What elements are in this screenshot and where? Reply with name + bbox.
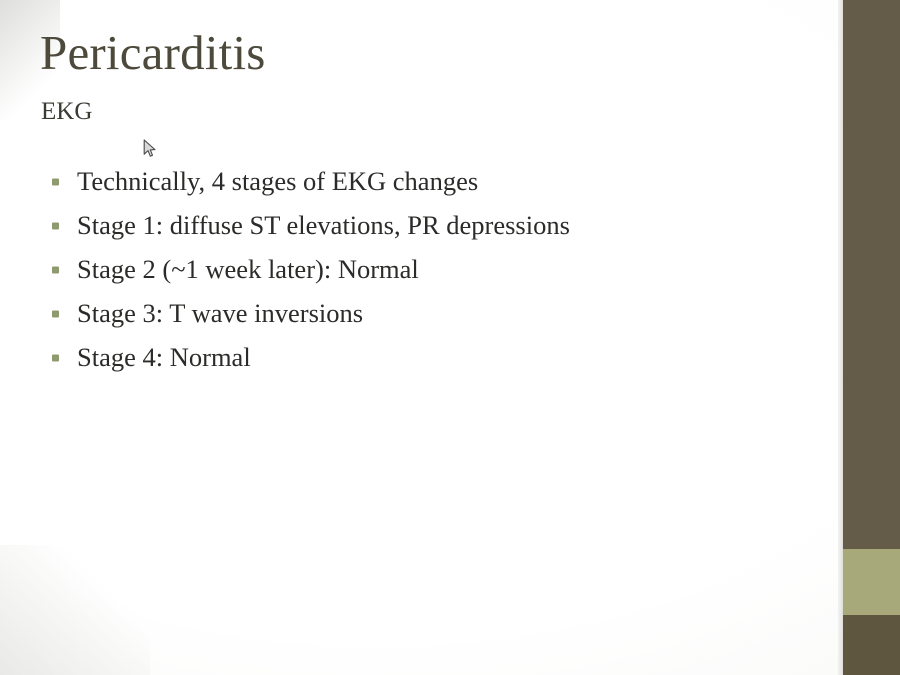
band-segment-dark-bottom	[843, 615, 900, 675]
band-segment-accent	[843, 549, 900, 615]
list-item-label: Stage 1: diffuse ST elevations, PR depre…	[77, 211, 570, 240]
list-item: Technically, 4 stages of EKG changes	[48, 160, 808, 204]
band-segment-dark-top	[843, 0, 900, 549]
bullet-point-icon	[52, 311, 59, 318]
list-item: Stage 2 (~1 week later): Normal	[48, 248, 808, 292]
bullet-list: Technically, 4 stages of EKG changes Sta…	[48, 160, 808, 380]
slide-content-area: Pericarditis EKG Technically, 4 stages o…	[0, 0, 843, 675]
list-item-label: Stage 2 (~1 week later): Normal	[77, 255, 419, 284]
list-item-label: Stage 4: Normal	[77, 343, 251, 372]
bullet-point-icon	[52, 223, 59, 230]
list-item: Stage 4: Normal	[48, 336, 808, 380]
list-item: Stage 3: T wave inversions	[48, 292, 808, 336]
slide-subtitle: EKG	[41, 98, 92, 126]
list-item: Stage 1: diffuse ST elevations, PR depre…	[48, 204, 808, 248]
list-item-label: Technically, 4 stages of EKG changes	[77, 167, 478, 196]
bullet-point-icon	[52, 179, 59, 186]
bullet-point-icon	[52, 355, 59, 362]
list-item-label: Stage 3: T wave inversions	[77, 299, 363, 328]
page-title: Pericarditis	[40, 27, 266, 78]
bullet-point-icon	[52, 267, 59, 274]
slide-decorative-band	[843, 0, 900, 675]
presentation-slide: Pericarditis EKG Technically, 4 stages o…	[0, 0, 900, 675]
